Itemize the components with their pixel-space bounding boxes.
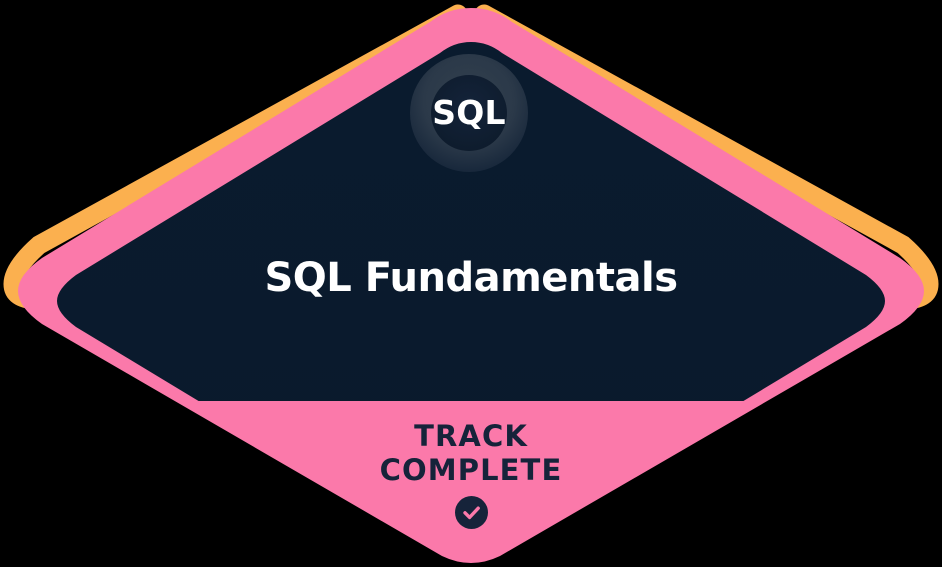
sql-chip-graphic [410, 54, 528, 172]
track-badge-card: SQL SQL Fundamentals TRACK COMPLETE [0, 0, 942, 567]
badge-shape-graphic [0, 0, 942, 567]
